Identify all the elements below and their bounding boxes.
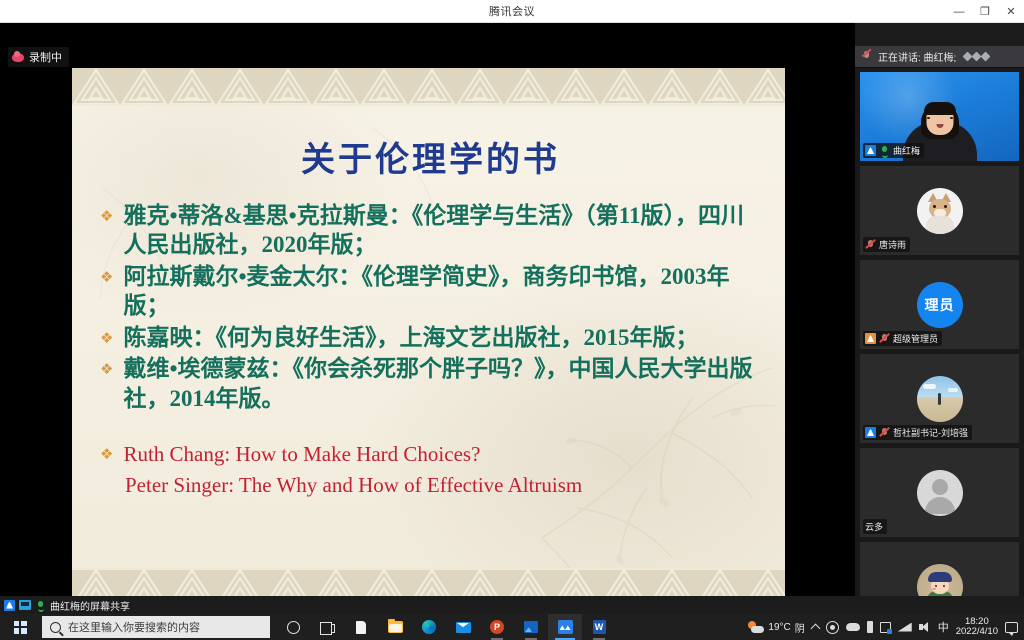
participants-panel: 正在讲话: 曲红梅; <box>855 46 1024 619</box>
host-icon <box>865 427 876 438</box>
presentation-slide: 关于伦理学的书 ❖ 雅克•蒂洛&基思•克拉斯曼：《伦理学与生活》（第11版），四… <box>72 68 785 606</box>
cat-avatar-art <box>917 188 963 234</box>
cortana-icon[interactable] <box>276 614 310 640</box>
edge-icon[interactable] <box>412 614 446 640</box>
system-tray: 19°C 阴 中 18:20 2022/4/10 <box>748 617 1024 638</box>
host-icon <box>865 145 876 156</box>
slide-content: 关于伦理学的书 ❖ 雅克•蒂洛&基思•克拉斯曼：《伦理学与生活》（第11版），四… <box>72 68 785 606</box>
bullet-text: 阿拉斯戴尔•麦金太尔：《伦理学简史》，商务印书馆，2003年版； <box>123 262 761 321</box>
participant-name: 哲社副书记-刘培强 <box>893 426 968 439</box>
participant-tiles: 曲红梅 唐诗雨 <box>855 68 1024 631</box>
screen-share-label: 曲红梅的屏幕共享 <box>50 598 130 613</box>
participant-label: 超级管理员 <box>863 331 942 346</box>
close-button[interactable]: ✕ <box>998 0 1024 23</box>
chevron-up-icon[interactable] <box>810 624 820 634</box>
slide-title: 关于伦理学的书 <box>94 132 767 181</box>
file-explorer-icon[interactable] <box>378 614 412 640</box>
host-icon <box>4 600 15 611</box>
list-item: ❖ 阿拉斯戴尔•麦金太尔：《伦理学简史》，商务印书馆，2003年版； <box>100 262 761 321</box>
active-speaker-bar: 正在讲话: 曲红梅; <box>855 46 1024 68</box>
participant-label: 云多 <box>863 519 887 534</box>
avatar <box>917 376 963 422</box>
window-titlebar: 腾讯会议 — ❐ ✕ <box>0 0 1024 23</box>
usb-icon[interactable] <box>867 621 873 633</box>
avatar <box>917 470 963 516</box>
participant-name: 云多 <box>865 520 883 533</box>
screen-root: 腾讯会议 — ❐ ✕ 录制中 <box>0 0 1024 640</box>
bullet-text: 雅克•蒂洛&基思•克拉斯曼：《伦理学与生活》（第11版），四川人民出版社，202… <box>123 201 761 260</box>
list-item: ❖ 陈嘉映：《何为良好生活》，上海文艺出版社，2015年版； <box>100 323 761 352</box>
list-item: ❖ 戴维•埃德蒙兹：《你会杀死那个胖子吗？》，中国人民大学出版社，2014年版。 <box>100 354 761 413</box>
bullet-text: 陈嘉映：《何为良好生活》，上海文艺出版社，2015年版； <box>123 323 698 352</box>
screenshot-tool-icon[interactable] <box>880 622 891 633</box>
microphone-on-icon <box>879 145 890 156</box>
recording-label: 录制中 <box>29 49 62 65</box>
participant-tile-avatar[interactable]: 理员 超级管理员 <box>860 260 1019 349</box>
avatar <box>917 188 963 234</box>
participant-tile-avatar[interactable]: 云多 <box>860 448 1019 537</box>
active-speaker-label: 正在讲话: 曲红梅; <box>878 49 956 64</box>
action-center-icon[interactable] <box>1005 622 1018 633</box>
slide-bullet-list: ❖ 雅克•蒂洛&基思•克拉斯曼：《伦理学与生活》（第11版），四川人民出版社，2… <box>94 201 767 413</box>
weather-condition: 阴 <box>795 620 805 635</box>
participant-tile-avatar[interactable]: 哲社副书记-刘培强 <box>860 354 1019 443</box>
participant-label: 哲社副书记-刘培强 <box>863 425 972 440</box>
restore-button[interactable]: ❐ <box>972 0 998 23</box>
notepad-icon[interactable] <box>344 614 378 640</box>
recording-badge: 录制中 <box>8 47 69 67</box>
weather-widget[interactable]: 19°C 阴 <box>748 620 804 635</box>
audio-wave-icon <box>964 53 989 60</box>
bullet-diamond-icon: ❖ <box>100 354 113 380</box>
screen-share-status-bar: 曲红梅的屏幕共享 <box>0 596 1024 614</box>
mail-icon[interactable] <box>446 614 480 640</box>
english-text: Peter Singer: The Why and How of Effecti… <box>125 470 582 500</box>
participant-label: 唐诗雨 <box>863 237 910 252</box>
participant-name: 唐诗雨 <box>879 238 906 251</box>
volume-icon[interactable] <box>919 622 931 632</box>
participant-tile-avatar[interactable]: 唐诗雨 <box>860 166 1019 255</box>
search-icon <box>50 622 61 633</box>
participant-name: 超级管理员 <box>893 332 938 345</box>
minimize-button[interactable]: — <box>946 0 972 23</box>
word-icon[interactable] <box>582 614 616 640</box>
bullet-text: 戴维•埃德蒙兹：《你会杀死那个胖子吗？》，中国人民大学出版社，2014年版。 <box>123 354 761 413</box>
weather-temperature: 19°C <box>768 622 790 633</box>
task-view-icon[interactable] <box>310 614 344 640</box>
list-item: ❖ 雅克•蒂洛&基思•克拉斯曼：《伦理学与生活》（第11版），四川人民出版社，2… <box>100 201 761 260</box>
shared-screen-stage: 录制中 <box>0 23 855 596</box>
default-user-icon <box>917 470 963 516</box>
cloud-icon[interactable] <box>846 623 860 631</box>
bullet-diamond-icon: ❖ <box>100 439 113 465</box>
bullet-diamond-icon: ❖ <box>100 201 113 227</box>
start-button[interactable] <box>0 614 40 640</box>
tencent-meeting-icon[interactable] <box>548 614 582 640</box>
participant-label: 曲红梅 <box>863 143 924 158</box>
network-icon[interactable] <box>898 623 912 632</box>
participant-tile-video[interactable]: 曲红梅 <box>860 72 1019 161</box>
co-host-icon <box>865 333 876 344</box>
window-title: 腾讯会议 <box>489 3 535 19</box>
taskbar-app-icons <box>276 614 616 640</box>
avatar: 理员 <box>917 282 963 328</box>
windows-logo-icon <box>14 621 27 634</box>
bullet-diamond-icon: ❖ <box>100 262 113 288</box>
clock[interactable]: 18:20 2022/4/10 <box>956 617 998 638</box>
beach-avatar-art <box>917 376 963 422</box>
microphone-muted-icon <box>861 51 872 62</box>
windows-taskbar: 在这里输入你要搜索的内容 19°C 阴 <box>0 614 1024 640</box>
microphone-muted-icon <box>879 427 890 438</box>
list-item: ❖ Ruth Chang: How to Make Hard Choices? <box>100 439 767 469</box>
slide-english-block: ❖ Ruth Chang: How to Make Hard Choices? … <box>94 439 767 500</box>
ime-indicator[interactable]: 中 <box>938 619 949 635</box>
list-item: Peter Singer: The Why and How of Effecti… <box>100 470 767 500</box>
powerpoint-icon[interactable] <box>480 614 514 640</box>
photos-icon[interactable] <box>514 614 548 640</box>
clock-date: 2022/4/10 <box>956 627 998 637</box>
bullet-diamond-icon: ❖ <box>100 323 113 349</box>
onedrive-icon[interactable] <box>826 621 839 634</box>
english-text: Ruth Chang: How to Make Hard Choices? <box>123 439 480 469</box>
microphone-muted-icon <box>879 333 890 344</box>
microphone-on-icon <box>35 600 46 611</box>
meeting-body: 录制中 <box>0 23 1024 596</box>
search-placeholder: 在这里输入你要搜索的内容 <box>68 619 200 635</box>
window-controls: — ❐ ✕ <box>946 0 1024 23</box>
record-dot-icon <box>12 53 24 62</box>
participant-name: 曲红梅 <box>893 144 920 157</box>
microphone-muted-icon <box>865 239 876 250</box>
screen-share-icon <box>19 600 31 610</box>
search-input[interactable]: 在这里输入你要搜索的内容 <box>42 616 270 638</box>
weather-cloudy-icon <box>748 621 764 633</box>
